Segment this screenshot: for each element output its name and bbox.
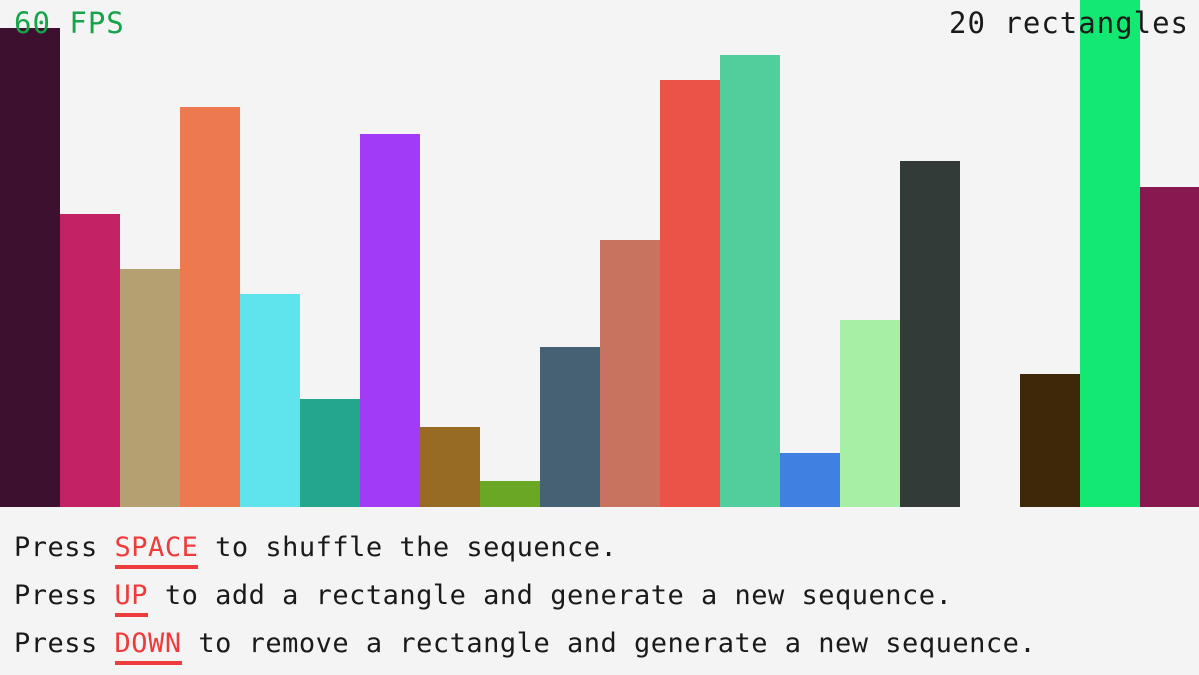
bar-rectangle <box>420 427 480 507</box>
instruction-suffix: to add a rectangle and generate a new se… <box>148 580 952 611</box>
bar-rectangle <box>240 294 300 507</box>
bar-rectangle <box>0 28 60 507</box>
rectangle-count-label: 20 rectangles <box>949 9 1189 38</box>
bar-rectangle <box>1140 187 1199 507</box>
bar-rectangle <box>180 107 240 507</box>
instructions-panel: Press SPACE to shuffle the sequence. Pre… <box>0 512 1199 675</box>
instruction-line-space: Press SPACE to shuffle the sequence. <box>14 534 617 561</box>
bar-rectangle <box>780 453 840 507</box>
instruction-suffix: to shuffle the sequence. <box>198 532 617 563</box>
key-down[interactable]: DOWN <box>115 628 182 665</box>
instruction-prefix: Press <box>14 580 115 611</box>
app-root: 60 FPS 20 rectangles Press SPACE to shuf… <box>0 0 1199 675</box>
bar-rectangle <box>840 320 900 507</box>
bar-rectangle <box>1080 0 1140 507</box>
instruction-line-up: Press UP to add a rectangle and generate… <box>14 582 952 609</box>
key-space[interactable]: SPACE <box>115 532 199 569</box>
rectangle-canvas[interactable] <box>0 0 1199 512</box>
instruction-prefix: Press <box>14 628 115 659</box>
instruction-line-down: Press DOWN to remove a rectangle and gen… <box>14 630 1036 657</box>
bar-rectangle <box>1020 374 1080 507</box>
bar-rectangle <box>720 55 780 507</box>
fps-counter: 60 FPS <box>14 9 125 38</box>
bar-rectangle <box>480 481 540 507</box>
bar-rectangle <box>120 269 180 507</box>
bar-rectangle <box>540 347 600 507</box>
bar-rectangle <box>600 240 660 507</box>
instruction-prefix: Press <box>14 532 115 563</box>
instruction-suffix: to remove a rectangle and generate a new… <box>182 628 1037 659</box>
bar-rectangle <box>360 134 420 507</box>
key-up[interactable]: UP <box>115 580 149 617</box>
bar-rectangle <box>60 214 120 507</box>
bar-rectangle <box>900 161 960 507</box>
bar-rectangle <box>300 399 360 507</box>
bar-rectangle <box>660 80 720 507</box>
